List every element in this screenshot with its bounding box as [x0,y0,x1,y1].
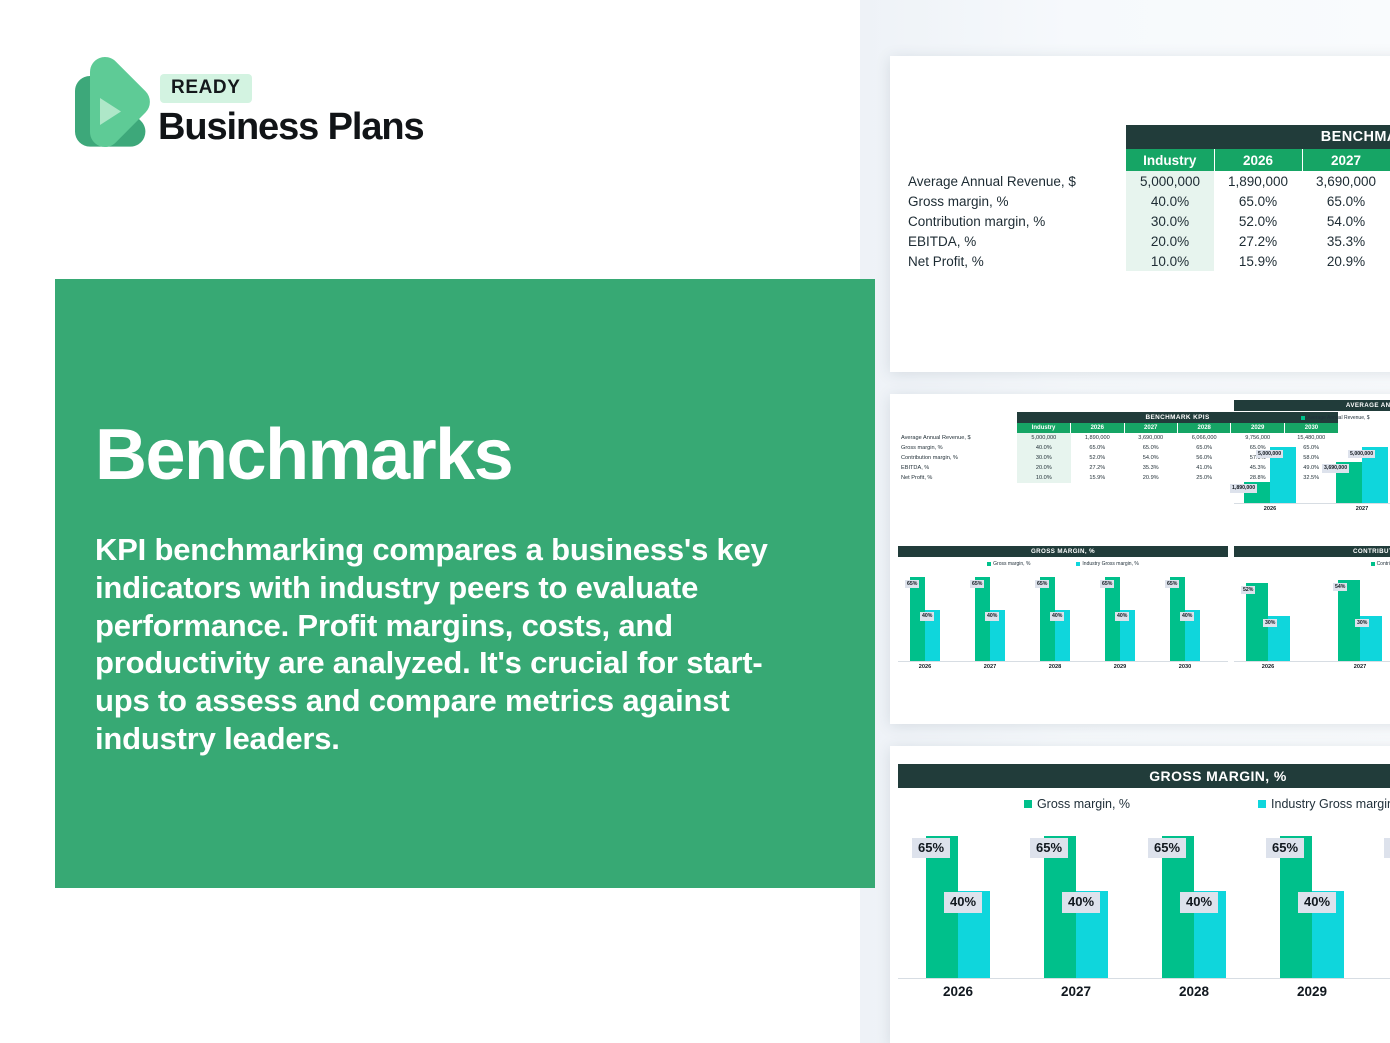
value-cell: 65.0% [1124,443,1177,453]
value-cell: 27.2% [1214,231,1302,251]
value-cell: 52.0% [1071,453,1124,463]
table-row: Net Profit, %10.0%15.9%20.9%25.0%28.8%32… [902,251,1390,271]
chart-x-label: 2026 [898,664,952,670]
bar-data-label: 65% [1266,838,1304,858]
row-label: Contribution margin, % [898,453,1017,463]
bar-data-label: 40% [920,612,934,621]
chart-plot-area: 52%30%202654%30%202756%30%2028 [1234,571,1390,683]
value-cell: 54.0% [1124,453,1177,463]
bar-data-label: 40% [944,892,982,912]
document-panel-bottom: GROSS MARGIN, % Gross margin, % Industry… [890,746,1390,1043]
column-header: Industry [1126,149,1214,171]
legend-label: Average Annual Revenue, $ [1307,415,1369,421]
legend-swatch-icon [1076,562,1080,566]
legend-label: Gross margin, % [1037,797,1130,811]
bar-data-label: 40% [1298,892,1336,912]
legend-item-industry: Industry Gross margin, % [1258,797,1390,811]
value-cell: 15.9% [1071,473,1124,483]
chart-x-label: 2026 [1232,506,1308,512]
chart-x-label: 2027 [1326,664,1390,670]
chart-x-label: 2028 [1150,984,1238,999]
value-cell: 65.0% [1177,443,1230,453]
legend-label: Contribution margin, % [1377,561,1390,567]
industry-cell: 20.0% [1017,463,1070,473]
chart-x-label: 2026 [1234,664,1302,670]
chart-plot-area: 1,890,0005,000,00020263,690,0005,000,000… [1234,425,1390,525]
row-label: Net Profit, % [902,251,1126,271]
bar-data-label: 30% [1355,619,1369,628]
value-cell: 3,690,000 [1124,433,1177,443]
chart-axis-line [898,978,1390,979]
chart-title: CONTRIBUTION MARGIN, % [1234,546,1390,557]
column-header: 2027 [1302,149,1390,171]
benchmark-kpis-table-large: BENCHMARK KPISIndustry202620272028202920… [902,125,1390,271]
bar-data-label: 40% [985,612,999,621]
chart-title: GROSS MARGIN, % [898,764,1390,788]
brand-name: Business Plans [158,106,424,149]
table-corner-spacer [898,412,1017,423]
industry-cell: 30.0% [1017,453,1070,463]
value-cell: 54.0% [1302,211,1390,231]
legend-swatch-icon [1371,562,1375,566]
bar-data-label: 65% [1165,580,1179,589]
legend-swatch-icon [987,562,991,566]
row-label: Gross margin, % [902,191,1126,211]
row-label: Net Profit, % [898,473,1017,483]
column-header: 2027 [1124,423,1177,433]
bar-data-label: 40% [1180,892,1218,912]
kpi-table-body-large: BENCHMARK KPISIndustry202620272028202920… [902,125,1390,271]
value-cell: 52.0% [1214,211,1302,231]
table-row: Contribution margin, %30.0%52.0%54.0%56.… [902,211,1390,231]
logo-svg [57,57,157,157]
value-cell: 15.9% [1214,251,1302,271]
brand-lockup: READY Business Plans [57,55,477,155]
bar-data-label: 40% [1062,892,1100,912]
chart-x-label: 2029 [1268,984,1356,999]
row-label: Average Annual Revenue, $ [898,433,1017,443]
table-banner-row: BENCHMARK KPIS [902,125,1390,149]
bar-data-label: 54% [1333,583,1347,592]
industry-cell: 10.0% [1017,473,1070,483]
legend-label: Industry Gross margin, % [1271,797,1390,811]
bar-data-label: 52% [1241,586,1255,595]
chart-x-label: 2028 [1028,664,1082,670]
row-label: Gross margin, % [898,443,1017,453]
value-cell: 6,066,000 [1177,433,1230,443]
column-header: 2028 [1177,423,1230,433]
table-header-blank [898,423,1017,433]
bar-data-label: 3,690,000 [1322,464,1349,473]
chart-x-label: 2029 [1093,664,1147,670]
row-label: Average Annual Revenue, $ [902,171,1126,191]
chart-x-label: 2030 [1386,984,1390,999]
bar-data-label: 65% [905,580,919,589]
column-header: 2026 [1071,423,1124,433]
industry-cell: 10.0% [1126,251,1214,271]
chart-axis-line [898,661,1228,662]
value-cell: 35.3% [1124,463,1177,473]
chart-x-label: 2027 [1032,984,1120,999]
chart-gross-margin-large: GROSS MARGIN, % Gross margin, % Industry… [898,764,1390,1026]
legend-swatch-icon [1258,800,1266,808]
chart-average-annual-revenue-small: AVERAGE ANNUAL REVENUE, $ Average Annual… [1234,400,1390,542]
value-cell: 65.0% [1071,443,1124,453]
legend-item-primary: Gross margin, % [987,561,1030,567]
value-cell: 3,690,000 [1302,171,1390,191]
industry-cell: 40.0% [1126,191,1214,211]
value-cell: 65.0% [1302,191,1390,211]
slide-canvas: READY Business Plans Benchmarks KPI benc… [0,0,1390,1043]
table-corner-spacer [902,125,1126,149]
chart-legend: Gross margin, % Industry Gross margin, % [898,797,1390,811]
chart-title: AVERAGE ANNUAL REVENUE, $ [1234,400,1390,411]
table-row: EBITDA, %20.0%27.2%35.3%41.0%45.3%49.0% [902,231,1390,251]
bar-data-label: 65% [970,580,984,589]
chart-x-label: 2027 [963,664,1017,670]
chart-plot-area: 65%40%202665%40%202765%40%202865%40%2029… [898,571,1228,683]
hero-description: KPI benchmarking compares a business's k… [95,531,775,758]
bar-data-label: 40% [1115,612,1129,621]
chart-x-label: 2030 [1158,664,1212,670]
legend-item-primary: Contribution margin, % [1371,561,1390,567]
industry-cell: 5,000,000 [1126,171,1214,191]
legend-label: Industry Gross margin, % [1082,561,1138,567]
play-triangle-logo [57,57,157,157]
legend-item-primary: Gross margin, % [1024,797,1130,811]
table-header-blank [902,149,1126,171]
chart-legend: Average Annual Revenue, $ Industry Avera… [1234,415,1390,421]
value-cell: 41.0% [1177,463,1230,473]
bar-data-label: 65% [1030,838,1068,858]
document-panel-top: BENCHMARK KPISIndustry202620272028202920… [890,56,1390,372]
value-cell: 56.0% [1177,453,1230,463]
bar-data-label: 30% [1263,619,1277,628]
chart-legend: Gross margin, % Industry Gross margin, % [898,561,1228,567]
row-label: Contribution margin, % [902,211,1126,231]
column-header: Industry [1017,423,1070,433]
chart-x-label: 2027 [1324,506,1390,512]
value-cell: 35.3% [1302,231,1390,251]
table-header-row: Industry20262027202820292030 [902,149,1390,171]
chart-axis-line [1234,661,1390,662]
value-cell: 1,890,000 [1071,433,1124,443]
legend-label: Gross margin, % [993,561,1030,567]
bar-data-label: 40% [1180,612,1194,621]
page-title: Benchmarks [95,419,512,491]
bar-data-label: 5,000,000 [1256,450,1283,459]
bar-data-label: 65% [1384,838,1390,858]
legend-item-primary: Average Annual Revenue, $ [1301,415,1369,421]
chart-contribution-margin-small: CONTRIBUTION MARGIN, % Contribution marg… [1234,546,1390,708]
legend-swatch-icon [1301,416,1305,420]
table-row: Gross margin, %40.0%65.0%65.0%65.0%65.0%… [902,191,1390,211]
bar-data-label: 65% [1035,580,1049,589]
chart-legend: Contribution margin, % [1234,561,1390,567]
bar-data-label: 1,890,000 [1230,484,1257,493]
row-label: EBITDA, % [902,231,1126,251]
bar-data-label: 65% [1148,838,1186,858]
column-header: 2026 [1214,149,1302,171]
chart-gross-margin-small: GROSS MARGIN, % Gross margin, % Industry… [898,546,1228,708]
industry-cell: 5,000,000 [1017,433,1070,443]
table-row: Average Annual Revenue, $5,000,0001,890,… [902,171,1390,191]
value-cell: 27.2% [1071,463,1124,473]
chart-plot-area: 65%40%202665%40%202765%40%202865%40%2029… [898,825,1390,1000]
ready-badge: READY [160,74,252,103]
chart-x-label: 2026 [914,984,1002,999]
industry-cell: 40.0% [1017,443,1070,453]
table-banner: BENCHMARK KPIS [1126,125,1390,149]
bar-data-label: 5,000,000 [1348,450,1375,459]
bar-data-label: 65% [1100,580,1114,589]
value-cell: 25.0% [1177,473,1230,483]
row-label: EBITDA, % [898,463,1017,473]
document-panel-middle: BENCHMARK KPISIndustry202620272028202920… [890,394,1390,724]
chart-axis-line [1234,503,1390,504]
hero-panel: Benchmarks KPI benchmarking compares a b… [55,279,875,888]
industry-cell: 20.0% [1126,231,1214,251]
value-cell: 20.9% [1302,251,1390,271]
value-cell: 1,890,000 [1214,171,1302,191]
chart-title: GROSS MARGIN, % [898,546,1228,557]
industry-cell: 30.0% [1126,211,1214,231]
bar-data-label: 40% [1050,612,1064,621]
value-cell: 65.0% [1214,191,1302,211]
bar-data-label: 65% [912,838,950,858]
legend-swatch-icon [1024,800,1032,808]
value-cell: 20.9% [1124,473,1177,483]
legend-item-industry: Industry Gross margin, % [1076,561,1138,567]
